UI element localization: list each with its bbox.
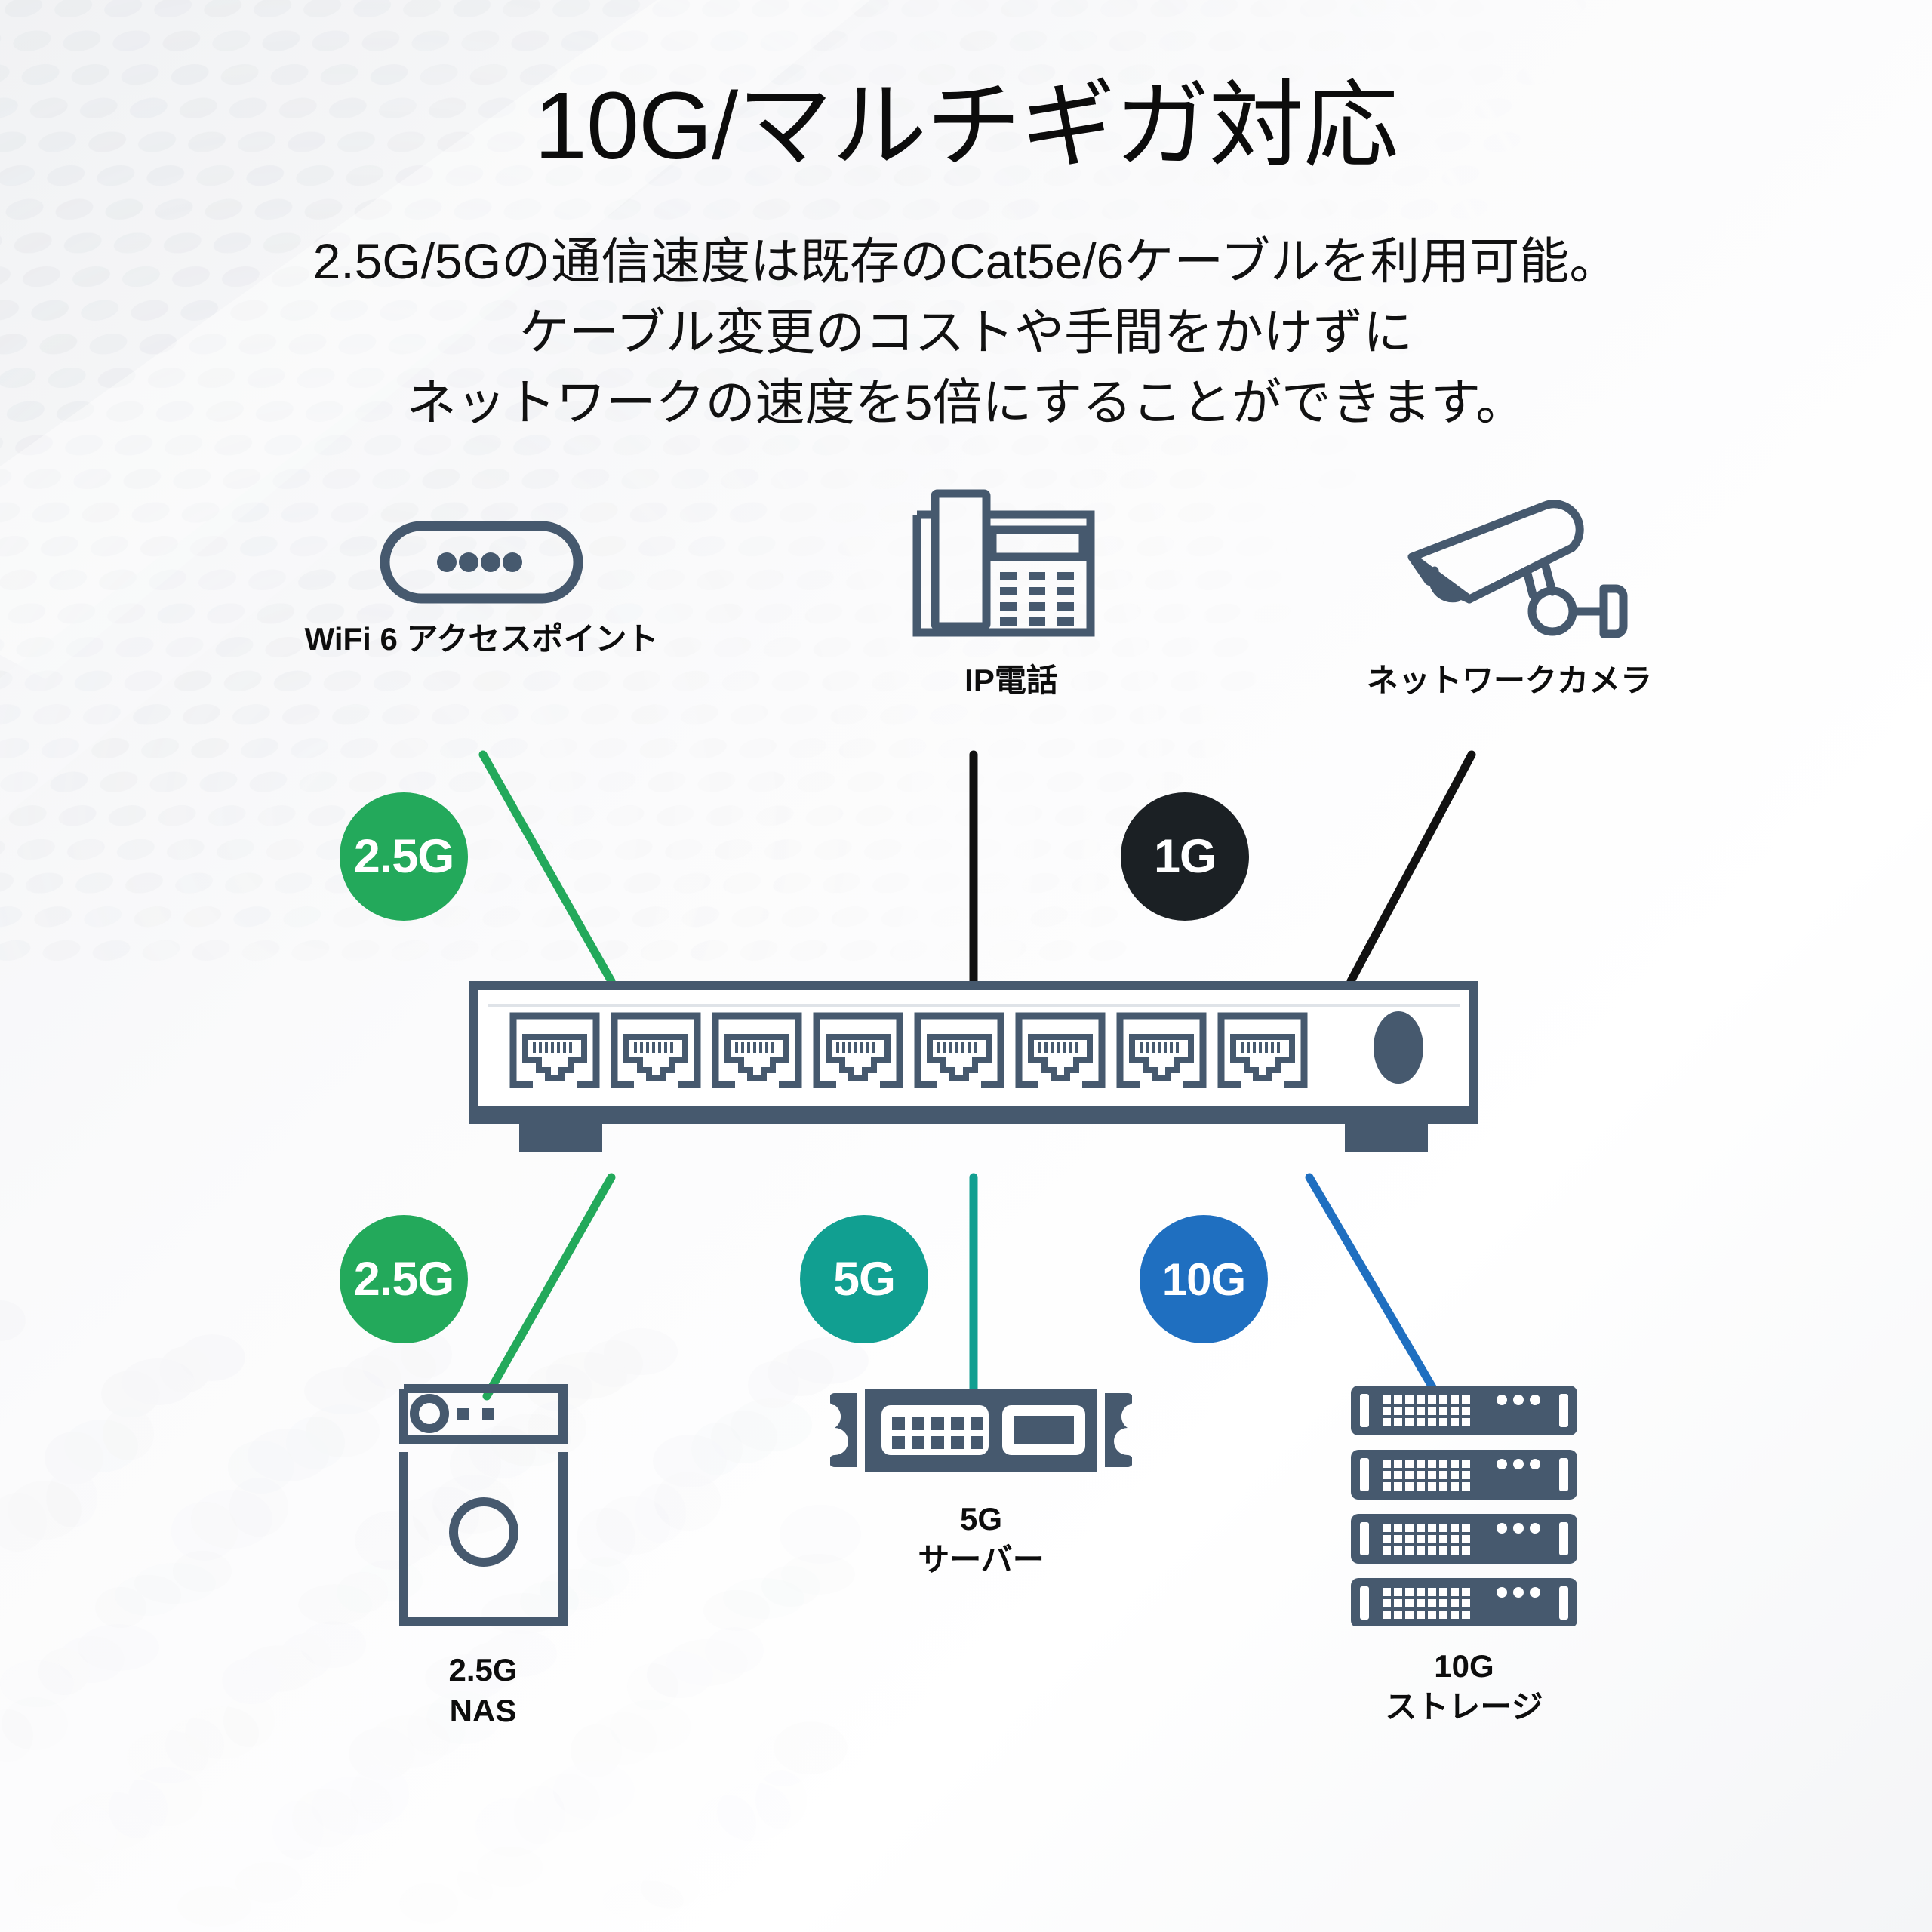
network-camera-icon xyxy=(1385,498,1634,645)
device-storage: 10G ストレージ xyxy=(1298,1381,1630,1727)
switch-status-indicator xyxy=(1374,1011,1423,1084)
device-label-server: 5G サーバー xyxy=(918,1499,1044,1580)
rack-storage-icon xyxy=(1346,1381,1583,1626)
multi-gigabit-switch xyxy=(468,981,1479,1155)
device-nas: 2.5G NAS xyxy=(325,1381,641,1731)
page-subtitle: 2.5G/5Gの通信速度は既存のCat5e/6ケーブルを利用可能。 ケーブル変更… xyxy=(0,226,1932,438)
device-wifi-access-point: WiFi 6 アクセスポイント xyxy=(202,521,761,660)
storage-unit-4 xyxy=(1351,1578,1577,1626)
ip-phone-icon xyxy=(902,483,1121,645)
speed-badge-2.5g-bottom: 2.5G xyxy=(340,1215,468,1343)
storage-unit-2 xyxy=(1351,1450,1577,1500)
device-label-ip-phone: IP電話 xyxy=(964,660,1058,701)
device-server: 5G サーバー xyxy=(800,1381,1162,1580)
subtitle-line-3: ネットワークの速度を5倍にすることができます。 xyxy=(0,368,1932,438)
device-ip-phone: IP電話 xyxy=(815,483,1207,701)
device-label-nas: 2.5G NAS xyxy=(448,1650,517,1731)
speed-badge-5g: 5G xyxy=(800,1215,928,1343)
nas-tower-icon xyxy=(387,1381,580,1630)
rack-server-icon xyxy=(830,1381,1132,1479)
page-title: 10G/マルチギガ対応 xyxy=(0,72,1932,179)
storage-unit-1 xyxy=(1351,1386,1577,1435)
storage-unit-group xyxy=(1351,1386,1577,1626)
storage-unit-3 xyxy=(1351,1514,1577,1564)
device-label-wifi-access-point: WiFi 6 アクセスポイント xyxy=(305,619,659,660)
device-label-network-camera: ネットワークカメラ xyxy=(1367,660,1652,701)
speed-badge-1g: 1G xyxy=(1121,792,1249,921)
device-label-storage: 10G ストレージ xyxy=(1385,1646,1543,1727)
wifi-access-point-icon xyxy=(380,521,583,604)
device-network-camera: ネットワークカメラ xyxy=(1275,498,1743,701)
speed-badge-10g: 10G xyxy=(1140,1215,1268,1343)
subtitle-line-2: ケーブル変更のコストや手間をかけずに xyxy=(0,297,1932,368)
speed-badge-2.5g-top: 2.5G xyxy=(340,792,468,921)
subtitle-line-1: 2.5G/5Gの通信速度は既存のCat5e/6ケーブルを利用可能。 xyxy=(0,226,1932,297)
